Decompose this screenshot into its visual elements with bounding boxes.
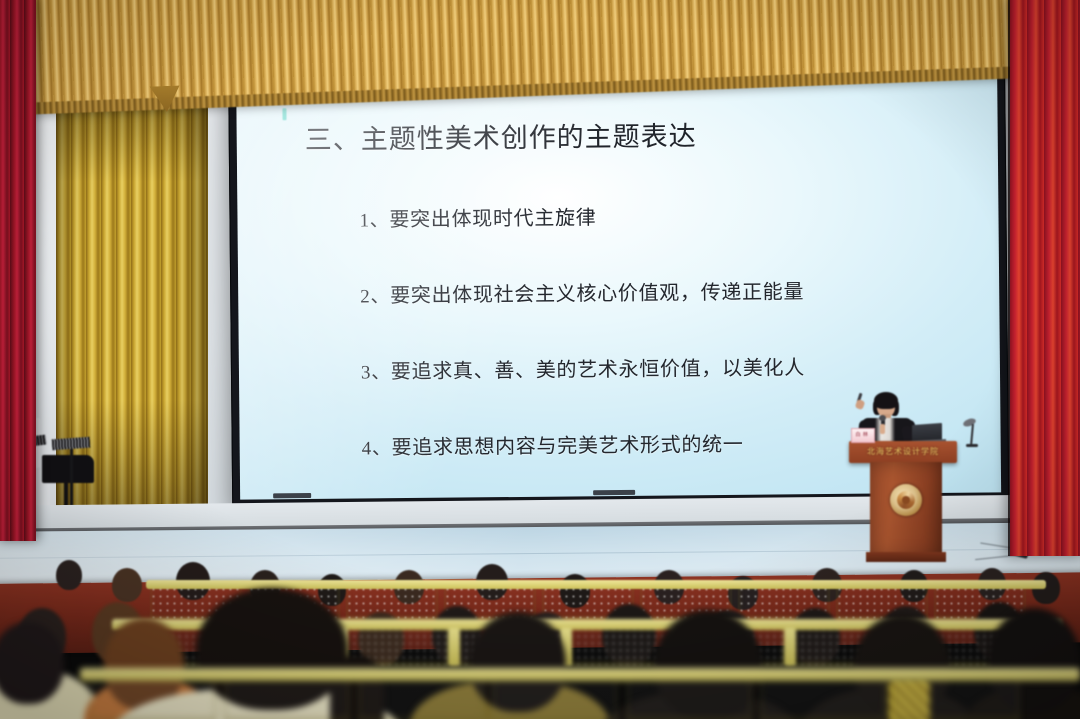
speaker-hand: [880, 424, 885, 434]
mic-stand-base: [966, 444, 978, 447]
auditorium-photo: 三、主题性美术创作的主题表达 1、要突出体现时代主旋律 2、要突出体现社会主义核…: [0, 0, 1080, 719]
red-curtain-right: [1010, 0, 1080, 556]
seat-row-1: [0, 676, 1080, 719]
podium-group: 白 林 北海艺术设计学院: [0, 0, 1080, 600]
microphone-head-icon: [879, 415, 886, 421]
red-curtain-left: [0, 0, 36, 541]
podium-engraved-text: 北海艺术设计学院: [851, 445, 955, 459]
mic-stand-head-icon: [962, 417, 977, 428]
speaker-hair: [874, 392, 898, 409]
name-card-text: 白 林: [853, 431, 871, 438]
mic-stand-pole: [970, 424, 974, 446]
speaker-hand-raised: [855, 399, 866, 410]
emblem-core: [902, 496, 910, 504]
